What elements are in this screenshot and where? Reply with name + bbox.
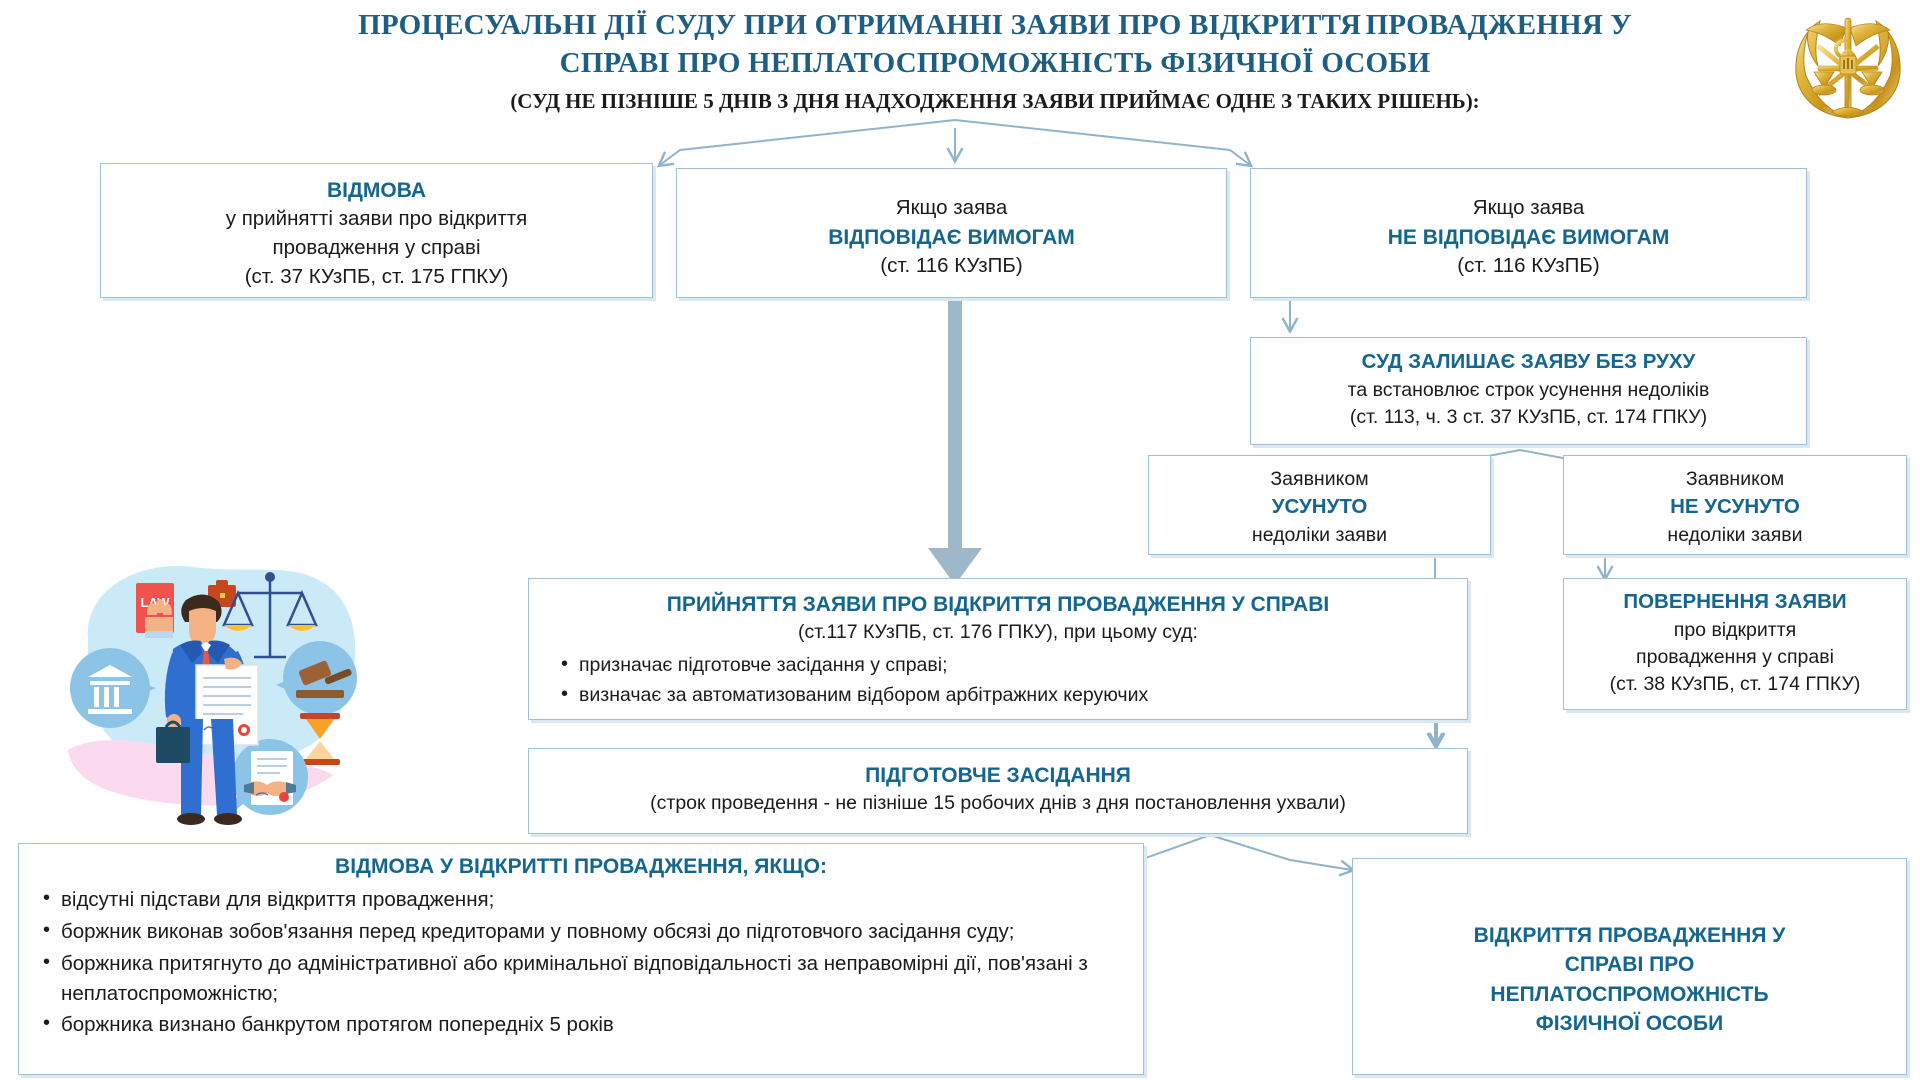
title-subtitle: (СУД НЕ ПІЗНІШЕ 5 ДНІВ З ДНЯ НАДХОДЖЕННЯ… [300,85,1690,117]
open-proceedings-line-3: НЕПЛАТОСПРОМОЖНІСТЬ [1367,980,1892,1009]
list-item: відсутні підстави для відкриття провадже… [39,885,1125,915]
infographic-canvas: ПРОЦЕСУАЛЬНІ ДІЇ СУДУ ПРИ ОТРИМАННІ ЗАЯВ… [0,0,1920,1080]
without-motion-citation: (ст. 113, ч. 3 ст. 37 КУзПБ, ст. 174 ГПК… [1265,404,1792,431]
defects-not-fixed-heading: НЕ УСУНУТО [1578,493,1892,522]
return-line-1: про відкриття [1578,617,1892,644]
node-defects-fixed[interactable]: Заявником УСУНУТО недоліки заяви [1148,455,1491,555]
open-proceedings-line-1: ВІДКРИТТЯ ПРОВАДЖЕННЯ У [1367,921,1892,950]
return-line-2: провадження у справі [1578,644,1892,671]
prep-hearing-citation: (строк проведення - не пізніше 15 робочи… [543,790,1453,817]
not-meets-heading: НЕ ВІДПОВІДАЄ ВИМОГАМ [1265,223,1792,252]
accept-bullet-list: призначає підготовче засідання у справі;… [557,651,1453,710]
refusal-open-bullet-list: відсутні підстави для відкриття провадже… [39,885,1125,1040]
node-accept-application[interactable]: ПРИЙНЯТТЯ ЗАЯВИ ПРО ВІДКРИТТЯ ПРОВАДЖЕНН… [528,578,1468,720]
refusal-line-2: провадження у справі [115,234,638,263]
defects-not-fixed-pre: Заявником [1578,466,1892,493]
node-defects-not-fixed[interactable]: Заявником НЕ УСУНУТО недоліки заяви [1563,455,1907,555]
not-meets-citation: (ст. 116 КУзПБ) [1265,252,1792,281]
meets-citation: (ст. 116 КУзПБ) [691,252,1212,281]
node-meets-requirements[interactable]: Якщо заява ВІДПОВІДАЄ ВИМОГАМ (ст. 116 К… [676,168,1227,298]
accept-citation: (ст.117 КУзПБ, ст. 176 ГПКУ), при цьому … [543,619,1453,646]
meets-heading: ВІДПОВІДАЄ ВИМОГАМ [691,223,1212,252]
list-item: визначає за автоматизованим відбором арб… [557,681,1453,709]
page-title: ПРОЦЕСУАЛЬНІ ДІЇ СУДУ ПРИ ОТРИМАННІ ЗАЯВ… [300,6,1690,117]
node-return-application[interactable]: ПОВЕРНЕННЯ ЗАЯВИ про відкриття проваджен… [1563,578,1907,710]
defects-not-fixed-post: недоліки заяви [1578,522,1892,549]
not-meets-pre-text: Якщо заява [1265,194,1792,223]
list-item: боржника визнано банкрутом протягом попе… [39,1010,1125,1040]
node-refusal-to-accept[interactable]: ВІДМОВА у прийнятті заяви про відкриття … [100,163,653,298]
list-item: боржник виконав зобов'язання перед креди… [39,917,1125,947]
meets-pre-text: Якщо заява [691,194,1212,223]
prep-hearing-heading: ПІДГОТОВЧЕ ЗАСІДАННЯ [543,761,1453,790]
without-motion-line-1: та встановлює строк усунення недоліків [1265,377,1792,404]
refusal-heading: ВІДМОВА [115,176,638,205]
node-left-without-motion[interactable]: СУД ЗАЛИШАЄ ЗАЯВУ БЕЗ РУХУ та встановлює… [1250,337,1807,445]
list-item: боржника притягнуто до адміністративної … [39,949,1125,1008]
defects-fixed-post: недоліки заяви [1163,522,1476,549]
node-refusal-to-open[interactable]: ВІДМОВА У ВІДКРИТТІ ПРОВАДЖЕННЯ, ЯКЩО: в… [18,843,1144,1075]
node-open-proceedings[interactable]: ВІДКРИТТЯ ПРОВАДЖЕННЯ У СПРАВІ ПРО НЕПЛА… [1352,858,1907,1075]
refusal-line-1: у прийнятті заяви про відкриття [115,205,638,234]
list-item: призначає підготовче засідання у справі; [557,651,1453,679]
return-citation: (ст. 38 КУзПБ, ст. 174 ГПКУ) [1578,671,1892,698]
node-preparatory-hearing[interactable]: ПІДГОТОВЧЕ ЗАСІДАННЯ (строк проведення -… [528,748,1468,834]
refusal-open-heading: ВІДМОВА У ВІДКРИТТІ ПРОВАДЖЕННЯ, ЯКЩО: [37,852,1125,881]
node-not-meets-requirements[interactable]: Якщо заява НЕ ВІДПОВІДАЄ ВИМОГАМ (ст. 11… [1250,168,1807,298]
refusal-citation: (ст. 37 КУзПБ, ст. 175 ГПКУ) [115,263,638,292]
defects-fixed-pre: Заявником [1163,466,1476,493]
without-motion-heading: СУД ЗАЛИШАЄ ЗАЯВУ БЕЗ РУХУ [1265,348,1792,377]
accept-heading: ПРИЙНЯТТЯ ЗАЯВИ ПРО ВІДКРИТТЯ ПРОВАДЖЕНН… [543,590,1453,619]
court-emblem-icon [1788,6,1908,126]
open-proceedings-line-2: СПРАВІ ПРО [1367,950,1892,979]
open-proceedings-line-4: ФІЗИЧНОЇ ОСОБИ [1367,1009,1892,1038]
title-line-1: ПРОЦЕСУАЛЬНІ ДІЇ СУДУ ПРИ ОТРИМАННІ ЗАЯВ… [358,9,1361,41]
lawyer-illustration: LAW [48,545,388,850]
return-heading: ПОВЕРНЕННЯ ЗАЯВИ [1578,588,1892,617]
defects-fixed-heading: УСУНУТО [1163,493,1476,522]
